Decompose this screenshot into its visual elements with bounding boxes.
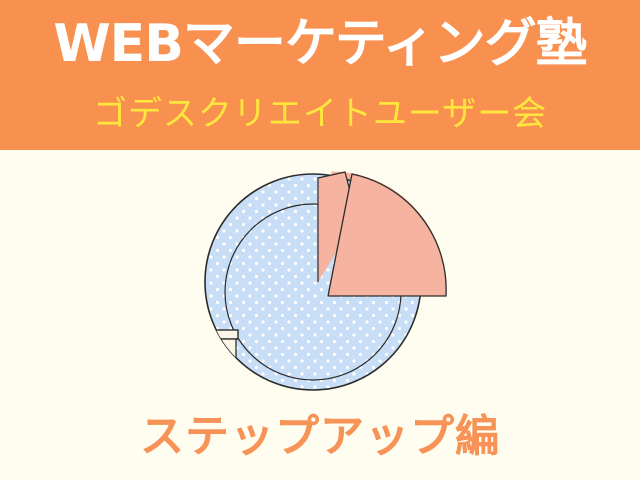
speech-bubble-wave xyxy=(112,278,174,311)
illustration-stage xyxy=(0,150,640,410)
small-tag-badge xyxy=(162,268,181,279)
page-subtitle: ゴデスクリエイトユーザー会 xyxy=(0,92,640,136)
standing-presenter xyxy=(61,216,127,378)
header-band: WEBマーケティング塾 ゴデスクリエイトユーザー会 xyxy=(0,0,640,150)
desk xyxy=(118,330,238,391)
page-title: WEBマーケティング塾 xyxy=(0,14,640,74)
poster-canvas: WEBマーケティング塾 ゴデスクリエイトユーザー会 xyxy=(0,0,640,480)
seated-laptop-user xyxy=(120,260,190,394)
footer-heading: ステップアップ編 ステップアップ編 xyxy=(0,408,640,466)
whiteboard-bar-chart xyxy=(109,230,175,272)
footer-heading-fill: ステップアップ編 xyxy=(0,408,640,466)
